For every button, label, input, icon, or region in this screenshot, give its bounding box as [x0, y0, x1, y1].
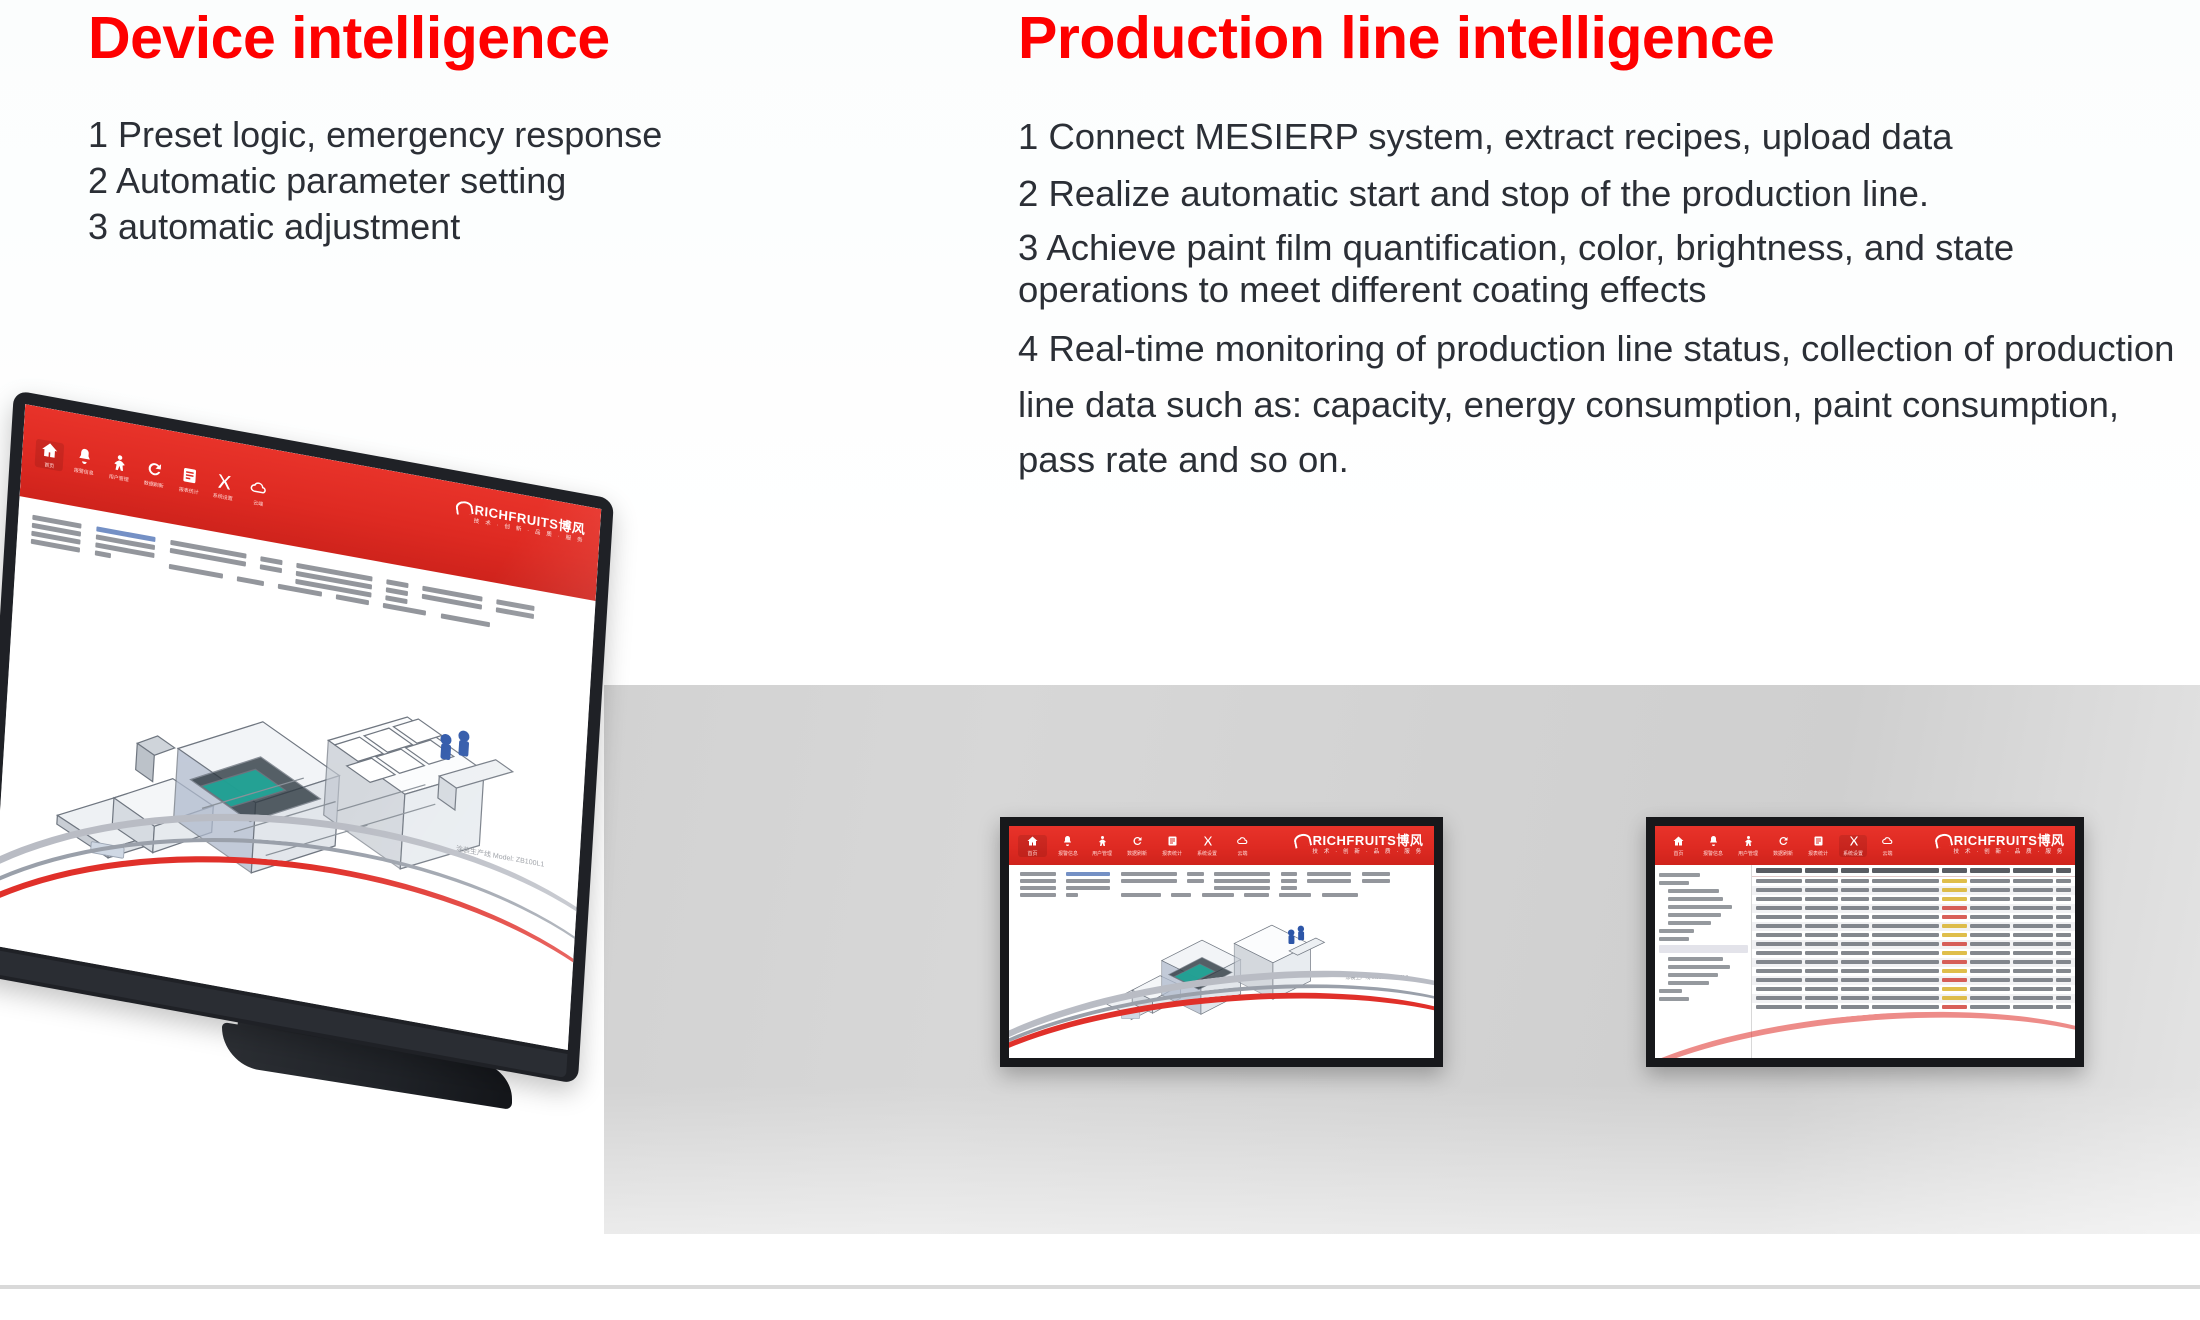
brand-tagline: 技 术 · 创 新 · 品 质 · 服 务 [1935, 850, 2065, 856]
alarm-icon [1707, 835, 1720, 847]
tree-node [1668, 913, 1721, 917]
alarm-icon [1061, 835, 1074, 847]
toolbar-label: 系统设置 [1197, 849, 1217, 856]
panel-screen-dashboard[interactable]: 首页 报警信息 用户管理 数据刷新 [1009, 826, 1434, 1058]
machine-tree-sidebar[interactable] [1655, 865, 1752, 1058]
toolbar-label: 报表统计 [178, 485, 198, 496]
swoosh-icon [455, 501, 474, 515]
tree-node [1668, 973, 1718, 977]
toolbar-button-report[interactable]: 报表统计 [1804, 835, 1833, 857]
hmi-status-panel [1020, 872, 1422, 900]
toolbar-button-cloud[interactable]: 云端 [1228, 835, 1257, 857]
table-row[interactable] [1752, 904, 2075, 913]
bullet-item: 2 Realize automatic start and stop of th… [1018, 171, 2178, 217]
toolbar-button-cloud[interactable]: 云端 [1874, 835, 1903, 857]
tree-group-label [1659, 929, 1694, 933]
refresh-icon [1777, 835, 1790, 847]
tree-node [1668, 889, 1719, 893]
toolbar-label: 首页 [1674, 849, 1684, 856]
table-row[interactable] [1752, 994, 2075, 1003]
toolbar-button-settings[interactable]: 系统设置 [209, 470, 239, 503]
table-row[interactable] [1752, 949, 2075, 958]
toolbar-label: 首页 [1028, 849, 1038, 856]
status-row [1020, 886, 1422, 890]
toolbar-button-home[interactable]: 首页 [34, 438, 64, 471]
toolbar-button-refresh[interactable]: 数据刷新 [1769, 835, 1798, 857]
bullet-item: 3 automatic adjustment [88, 206, 708, 248]
table-row[interactable] [1752, 895, 2075, 904]
toolbar-label: 首页 [44, 461, 54, 470]
bullet-item: 1 Connect MESIERP system, extract recipe… [1018, 114, 2178, 160]
toolbar-label: 报警信息 [1058, 849, 1078, 856]
hmi-toolbar-items[interactable]: 首页 报警信息 用户管理 数据刷新 [1009, 835, 1256, 857]
refresh-icon [1131, 835, 1144, 847]
hmi-toolbar[interactable]: 首页 报警信息 用户管理 数据刷新 [1009, 826, 1434, 865]
toolbar-button-cloud[interactable]: 云端 [244, 477, 274, 510]
toolbar-label: 系统设置 [213, 491, 233, 502]
hmi-brand-logo: RICHFRUITS博风 技 术 · 创 新 · 品 质 · 服 务 [1294, 832, 1424, 856]
toolbar-button-alarm[interactable]: 报警信息 [1699, 835, 1728, 857]
toolbar-label: 数据刷新 [143, 479, 163, 490]
panel-monitor-alarm-table: 首页 报警信息 用户管理 数据刷新 [1646, 817, 2084, 1067]
hmi-dashboard-panel[interactable]: 首页 报警信息 用户管理 数据刷新 [1009, 826, 1434, 1058]
toolbar-label: 云端 [1883, 849, 1893, 856]
production-line-intelligence-column: Production line intelligence 1 Connect M… [1018, 8, 2178, 499]
table-row[interactable] [1752, 976, 2075, 985]
table-header-row [1752, 868, 2075, 877]
tree-group-label [1659, 989, 1682, 993]
alarm-icon [74, 446, 95, 468]
toolbar-button-refresh[interactable]: 数据刷新 [139, 458, 169, 491]
table-row[interactable] [1752, 877, 2075, 886]
toolbar-label: 用户管理 [1738, 849, 1758, 856]
hmi-alarm-table-view[interactable]: 首页 报警信息 用户管理 数据刷新 [1655, 826, 2075, 1058]
tree-node [1659, 997, 1689, 1001]
tree-node [1659, 937, 1689, 941]
report-icon [1812, 835, 1825, 847]
device-intelligence-title: Device intelligence [88, 8, 708, 70]
user-icon [1742, 835, 1755, 847]
toolbar-label: 用户管理 [108, 472, 128, 483]
tree-node [1668, 905, 1732, 909]
toolbar-button-user[interactable]: 用户管理 [104, 451, 134, 484]
toolbar-label: 数据刷新 [1127, 849, 1147, 856]
status-row [1020, 879, 1422, 883]
wrench-icon [214, 471, 235, 493]
wrench-icon [1847, 835, 1860, 847]
toolbar-label: 云端 [253, 499, 263, 508]
toolbar-button-alarm[interactable]: 报警信息 [1053, 835, 1082, 857]
panel-screen-alarm-table[interactable]: 首页 报警信息 用户管理 数据刷新 [1655, 826, 2075, 1058]
toolbar-button-refresh[interactable]: 数据刷新 [1123, 835, 1152, 857]
status-row [1020, 893, 1422, 897]
tree-node [1668, 921, 1711, 925]
table-row[interactable] [1752, 913, 2075, 922]
status-row [1020, 872, 1422, 876]
table-row[interactable] [1752, 940, 2075, 949]
report-icon [179, 465, 200, 487]
brand-name: RICHFRUITS博风 [1294, 832, 1424, 847]
cloud-icon [249, 477, 270, 499]
toolbar-label: 云端 [1237, 849, 1247, 856]
cloud-icon [1236, 835, 1249, 847]
toolbar-button-home[interactable]: 首页 [1664, 835, 1693, 857]
toolbar-button-user[interactable]: 用户管理 [1088, 835, 1117, 857]
panel-monitor-dashboard: 首页 报警信息 用户管理 数据刷新 [1000, 817, 1443, 1067]
cloud-icon [1881, 835, 1894, 847]
toolbar-label: 报警信息 [74, 466, 94, 477]
home-icon [1672, 835, 1685, 847]
refresh-icon [144, 458, 165, 480]
toolbar-label: 报表统计 [1808, 849, 1828, 856]
table-row[interactable] [1752, 931, 2075, 940]
report-icon [1166, 835, 1179, 847]
bullet-item: 4 Real-time monitoring of production lin… [1018, 321, 2178, 487]
bullet-item: 2 Automatic parameter setting [88, 160, 708, 202]
device-intelligence-bullets: 1 Preset logic, emergency response 2 Aut… [88, 114, 708, 248]
hmi-toolbar-items[interactable]: 首页 报警信息 用户管理 [22, 436, 274, 510]
bullet-item: 1 Preset logic, emergency response [88, 114, 708, 156]
hmi-brand-logo: RICHFRUITS博风 技 术 · 创 新 · 品 质 · 服 务 [1935, 832, 2065, 856]
monitor-bezel: 首页 报警信息 用户管理 [0, 390, 614, 1084]
swoosh-icon [1934, 833, 1953, 849]
brand-name: RICHFRUITS博风 [1935, 832, 2065, 847]
hmi-toolbar[interactable]: 首页 报警信息 用户管理 数据刷新 [1655, 826, 2075, 865]
toolbar-label: 报表统计 [1162, 849, 1182, 856]
user-icon [1096, 835, 1109, 847]
tree-node [1659, 881, 1689, 885]
brand-tagline: 技 术 · 创 新 · 品 质 · 服 务 [1294, 850, 1424, 856]
toolbar-button-report[interactable]: 报表统计 [1158, 835, 1187, 857]
table-row[interactable] [1752, 1003, 2075, 1012]
tree-node [1668, 897, 1723, 901]
product-showcase-scene: 首页 报警信息 用户管理 [0, 525, 2200, 1320]
tree-node [1668, 981, 1709, 985]
production-line-intelligence-title: Production line intelligence [1018, 8, 2178, 70]
toolbar-button-report[interactable]: 报表统计 [174, 464, 204, 497]
toolbar-label: 报警信息 [1704, 849, 1724, 856]
table-row[interactable] [1752, 922, 2075, 931]
toolbar-label: 数据刷新 [1773, 849, 1793, 856]
toolbar-button-home[interactable]: 首页 [1018, 835, 1047, 857]
table-row[interactable] [1752, 886, 2075, 895]
floor-line [0, 1285, 2200, 1289]
toolbar-label: 用户管理 [1093, 849, 1113, 856]
toolbar-button-settings[interactable]: 系统设置 [1193, 835, 1222, 857]
device-intelligence-column: Device intelligence 1 Preset logic, emer… [88, 8, 708, 252]
hmi-dashboard-main[interactable]: 首页 报警信息 用户管理 [0, 404, 601, 1050]
home-icon [1026, 835, 1039, 847]
hmi-brand-logo: RICHFRUITS博风 技 术 · 创 新 · 品 质 · 服 务 [455, 497, 586, 544]
tree-node [1668, 957, 1723, 961]
production-line-intelligence-bullets: 1 Connect MESIERP system, extract recipe… [1018, 114, 2178, 488]
table-row[interactable] [1752, 967, 2075, 976]
tree-node [1668, 965, 1730, 969]
tree-group-label [1659, 873, 1700, 877]
wrench-icon [1201, 835, 1214, 847]
toolbar-label: 系统设置 [1843, 849, 1863, 856]
bullet-item: 3 Achieve paint film quantification, col… [1018, 227, 2178, 310]
user-icon [109, 452, 130, 474]
toolbar-button-alarm[interactable]: 报警信息 [69, 445, 99, 478]
home-icon [39, 439, 60, 461]
desktop-monitor: 首页 报警信息 用户管理 [8, 390, 648, 1290]
table-row[interactable] [1752, 958, 2075, 967]
monitor-screen[interactable]: 首页 报警信息 用户管理 [0, 404, 601, 1050]
tree-node-selected[interactable] [1659, 945, 1748, 953]
hmi-toolbar-items[interactable]: 首页 报警信息 用户管理 数据刷新 [1655, 835, 1902, 857]
toolbar-button-settings[interactable]: 系统设置 [1839, 835, 1868, 857]
toolbar-button-user[interactable]: 用户管理 [1734, 835, 1763, 857]
table-row[interactable] [1752, 985, 2075, 994]
swoosh-icon [1292, 833, 1311, 849]
